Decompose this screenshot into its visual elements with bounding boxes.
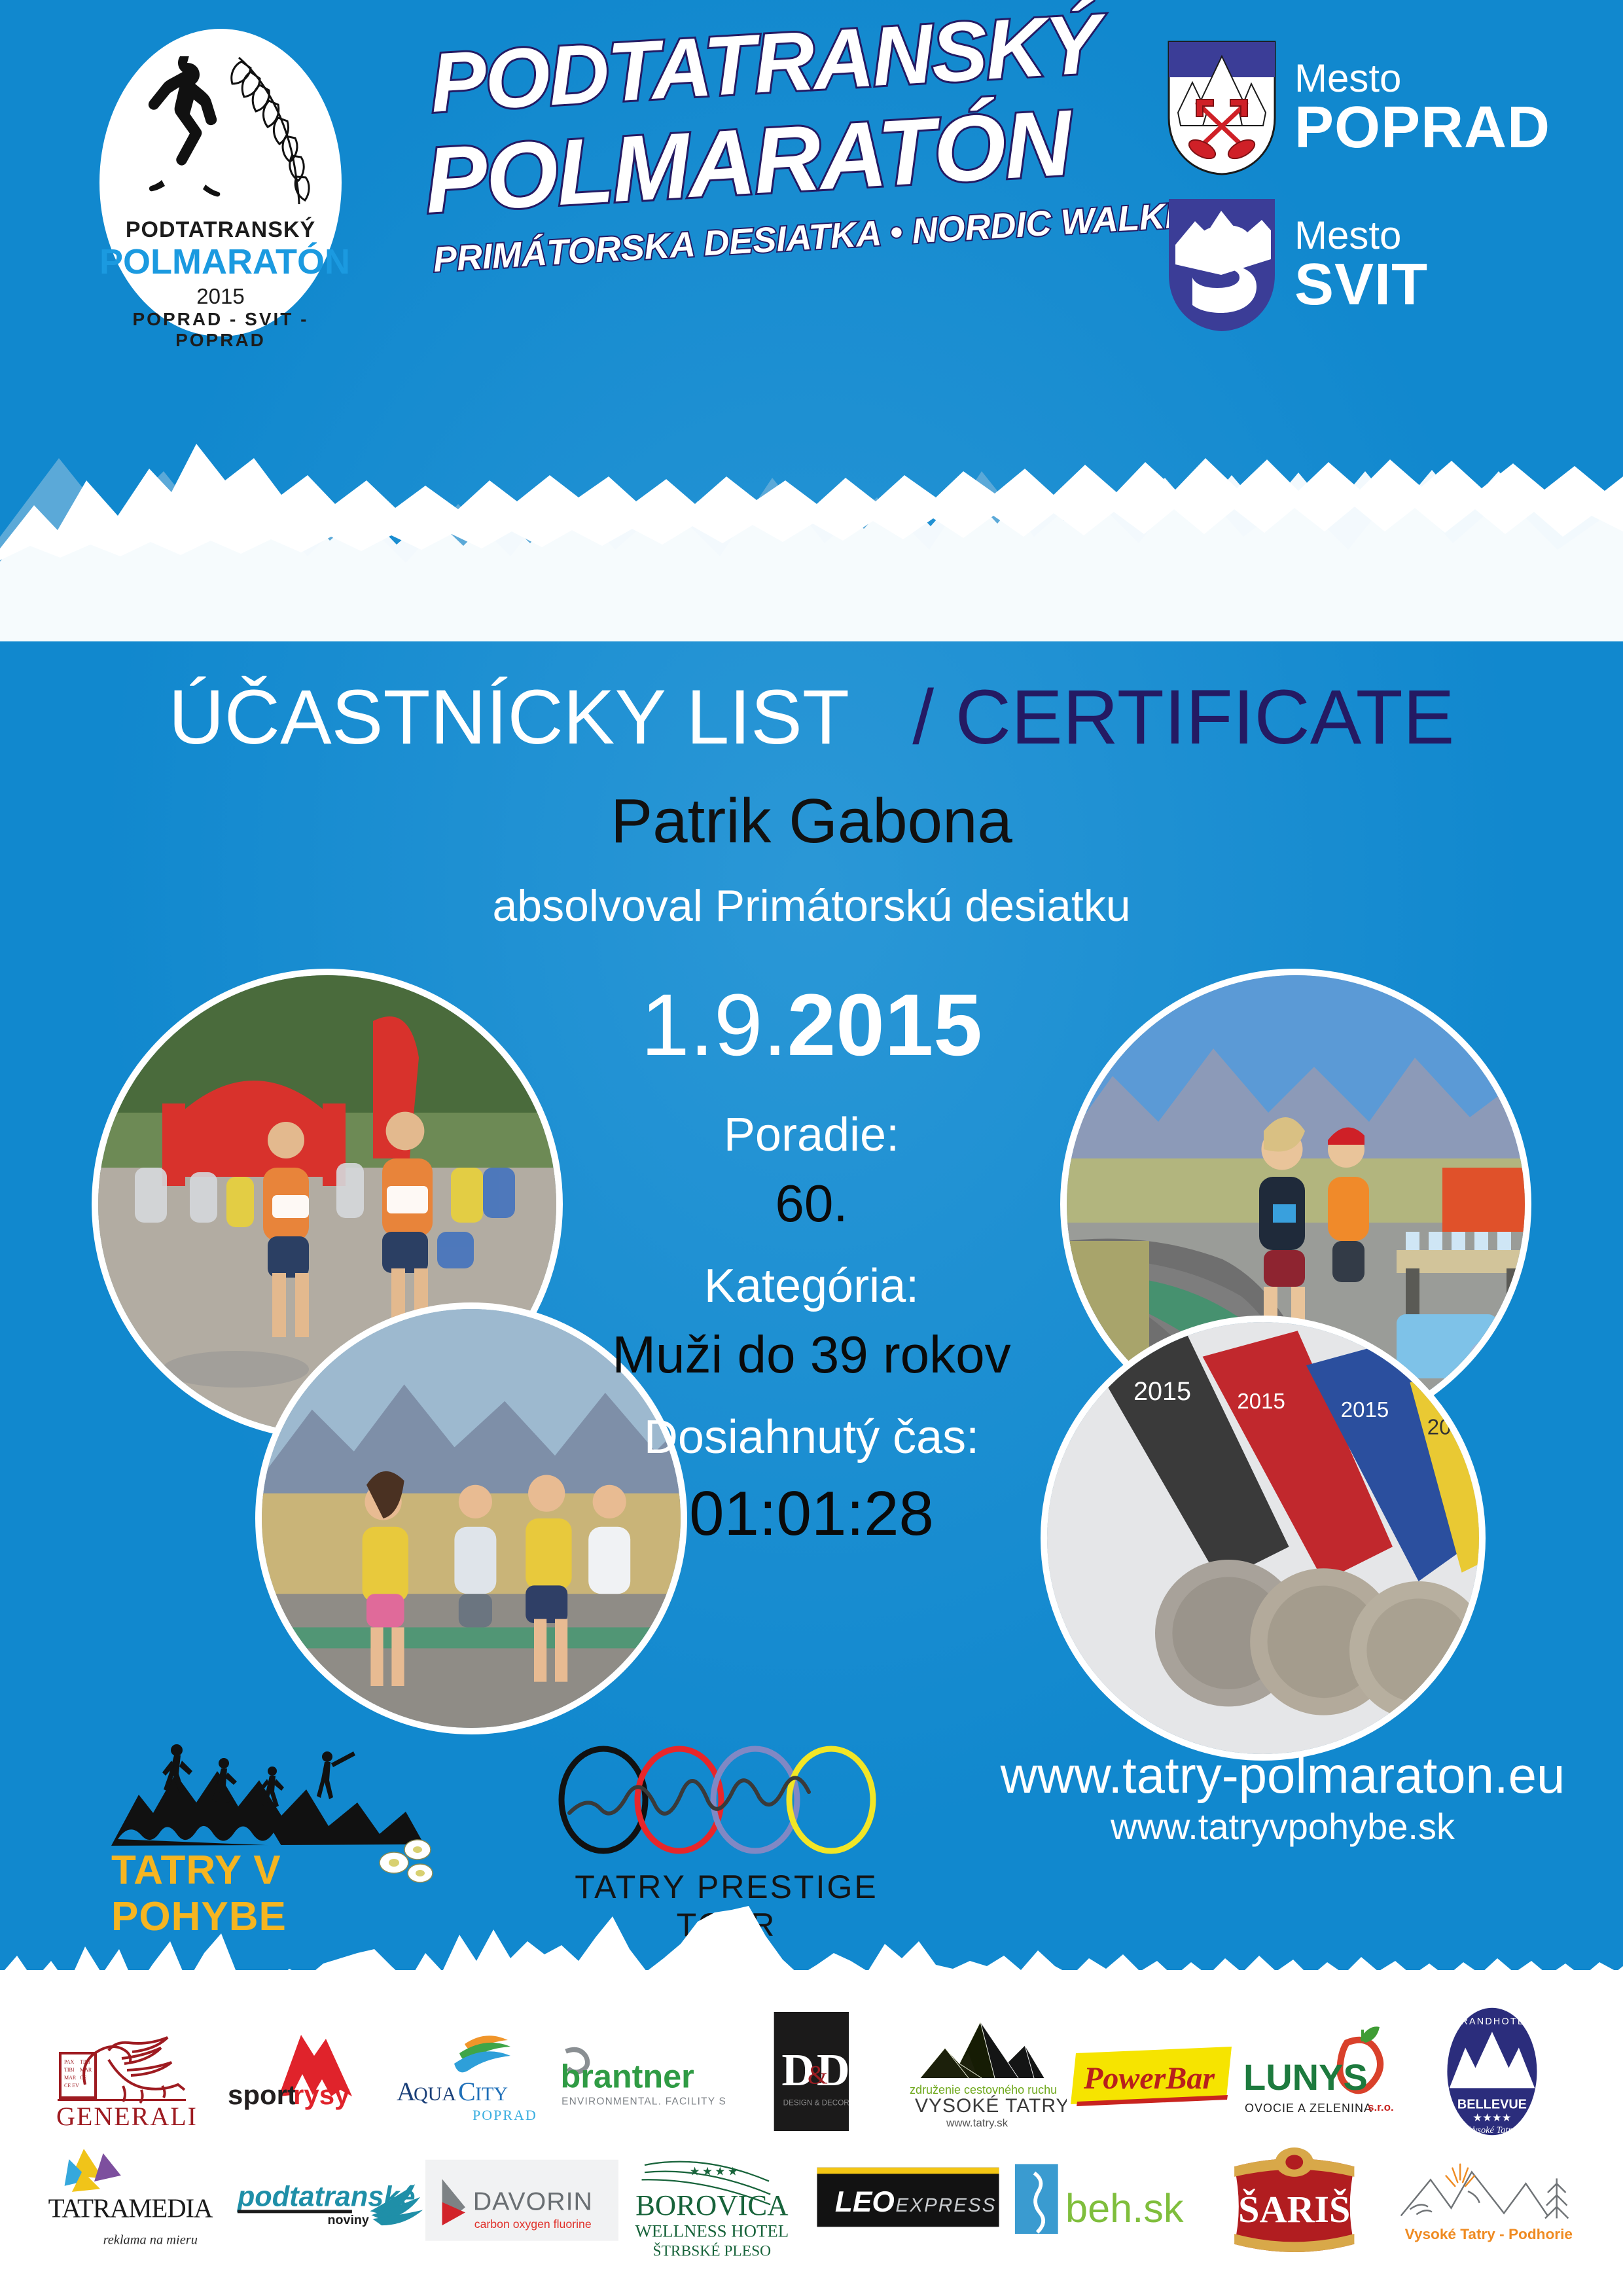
sponsor-podtatranske-noviny: podtatranské noviny [232, 2140, 425, 2265]
leo-express-logo-icon: LEO EXPRESS [811, 2158, 1005, 2248]
sponsor-footer: PAXTIBI TIBIMAR MARCE CE EV GENERALI spo… [0, 2003, 1623, 2296]
sponsor-borovica: ★★★★ BOROVICA WELLNESS HOTEL ŠTRBSKÉ PLE… [618, 2140, 811, 2265]
sponsor-podhorie: Vysoké Tatry - Podhorie [1391, 2140, 1584, 2265]
secondary-url[interactable]: www.tatryvpohybe.sk [955, 1804, 1610, 1850]
sponsor-tatramedia: TATRAMEDIA reklama na mieru [39, 2140, 232, 2265]
vysoke-tatry-logo-icon: združenie cestovného ruchu VYSOKÉ TATRY … [897, 2013, 1067, 2130]
vysoke-tatry-podhorie-logo-icon: Vysoké Tatry - Podhorie [1391, 2154, 1584, 2251]
lunys-logo-icon: LUNYS OVOCIE A ZELENINA s.r.o. [1237, 2013, 1407, 2130]
poprad-name: POPRAD [1294, 98, 1550, 158]
svit-prefix: Mesto [1294, 215, 1428, 255]
aquacity-logo-icon: A QUA C ITY POPRAD [386, 2013, 556, 2130]
sponsor-vysoke-tatry: združenie cestovného ruchu VYSOKÉ TATRY … [897, 2003, 1067, 2140]
svg-text:MAR: MAR [64, 2075, 77, 2081]
svg-text:rysy: rysy [293, 2079, 350, 2110]
borovica-hotel-logo-icon: ★★★★ BOROVICA WELLNESS HOTEL ŠTRBSKÉ PLE… [620, 2140, 810, 2265]
lunys-suffix: s.r.o. [1368, 2101, 1394, 2113]
sponsor-lunys: LUNYS OVOCIE A ZELENINA s.r.o. [1237, 2003, 1407, 2140]
sponsor-behsk: beh.sk [1005, 2140, 1198, 2265]
brantner-wordmark: brantner [561, 2057, 694, 2094]
podtatranske-noviny-logo-icon: podtatranské noviny [232, 2151, 425, 2253]
website-links: www.tatry-polmaraton.eu www.tatryvpohybe… [955, 1748, 1610, 1850]
primary-url[interactable]: www.tatry-polmaraton.eu [955, 1748, 1610, 1804]
dd-logo-icon: D D & DESIGN & DECOR [762, 2003, 861, 2140]
svg-text:ITY: ITY [475, 2083, 508, 2105]
behsk-wordmark: beh.sk [1065, 2185, 1184, 2230]
dd-tagline: DESIGN & DECOR [783, 2098, 849, 2107]
svg-text:2015: 2015 [1133, 1377, 1191, 1406]
vysoke-tatry-url: www.tatry.sk [946, 2117, 1008, 2129]
leo-express-label: EXPRESS [896, 2195, 997, 2216]
behsk-logo-icon: beh.sk [1005, 2151, 1198, 2255]
laurel-branch-icon [227, 52, 325, 209]
lunys-wordmark: LUNYS [1243, 2056, 1368, 2098]
borovica-location: ŠTRBSKÉ PLESO [653, 2242, 772, 2260]
certificate-heading-sk: ÚČASTNÍCKY LIST [169, 674, 848, 761]
davorin-wordmark: DAVORIN [473, 2187, 593, 2216]
event-date-year: 2015 [787, 977, 982, 1074]
participant-name: Patrik Gabona [0, 785, 1623, 857]
partner-svit: Mesto SVIT [1166, 196, 1428, 334]
event-date: 1.9.2015 [497, 982, 1126, 1069]
sponsor-bellevue: BELLEVUE ★★★★ GRANDHOTEL Vysoké Tatry [1407, 2003, 1577, 2140]
time-label: Dosiahnutý čas: [497, 1406, 1126, 1469]
davorin-logo-icon: DAVORIN carbon oxygen fluorine [425, 2151, 618, 2253]
bellevue-stars: ★★★★ [1472, 2111, 1512, 2124]
svg-text:TIBI: TIBI [64, 2067, 75, 2073]
svg-text:C: C [458, 2077, 476, 2106]
svg-text:CE: CE [80, 2075, 86, 2081]
tatramedia-wordmark: TATRAMEDIA [48, 2194, 213, 2223]
mountain-range-graphic [0, 340, 1623, 641]
tatry-prestige-tour-logo: TATRY PRESTIGE TOUR [543, 1740, 910, 1903]
tatramedia-tagline: reklama na mieru [103, 2233, 198, 2248]
aquacity-city-label: POPRAD [473, 2107, 537, 2123]
tatramedia-logo-icon: TATRAMEDIA reklama na mieru [39, 2143, 232, 2262]
poprad-prefix: Mesto [1294, 58, 1550, 98]
emblem-route: POPRAD - SVIT - POPRAD [99, 309, 342, 351]
event-title: PODTATRANSKÝ POLMARATÓN PRIMÁTORSKA DESI… [419, 38, 1132, 313]
vysoke-tatry-wordmark: VYSOKÉ TATRY [915, 2095, 1067, 2117]
bellevue-sub-label: Vysoké Tatry [1469, 2125, 1516, 2136]
svg-text:TIBI: TIBI [80, 2059, 90, 2065]
grandhotel-bellevue-logo-icon: BELLEVUE ★★★★ GRANDHOTEL Vysoké Tatry [1431, 2003, 1554, 2140]
sponsor-dd: D D & DESIGN & DECOR [726, 2003, 897, 2140]
category-value: Muži do 39 rokov [497, 1318, 1126, 1391]
svg-text:A: A [397, 2077, 416, 2106]
rank-value: 60. [497, 1167, 1126, 1240]
bellevue-wordmark: BELLEVUE [1457, 2097, 1527, 2111]
certificate-heading-en: / CERTIFICATE [912, 674, 1454, 761]
brand-strip: TATRY V POHYBE TATRY PRESTIGE TOUR www.t… [0, 1728, 1623, 1918]
bellevue-grandhotel-label: GRANDHOTEL [1452, 2017, 1532, 2027]
svit-label: Mesto SVIT [1294, 215, 1428, 315]
davorin-tagline: carbon oxygen fluorine [474, 2217, 592, 2231]
generali-wordmark: GENERALI [56, 2102, 198, 2130]
result-block: 1.9.2015 Poradie: 60. Kategória: Muži do… [497, 982, 1126, 1558]
brantner-logo-icon: brantner ENVIRONMENTAL. FACILITY SERVICE… [556, 2024, 726, 2119]
borovica-tagline: WELLNESS HOTEL [635, 2221, 789, 2241]
svg-text:PAX: PAX [64, 2059, 74, 2065]
saris-logo-icon: ŠARIŠ [1221, 2140, 1368, 2265]
svg-text:QUA: QUA [414, 2083, 456, 2105]
sponsor-davorin: DAVORIN carbon oxygen fluorine [425, 2140, 618, 2265]
sponsor-row-1: PAXTIBI TIBIMAR MARCE CE EV GENERALI spo… [0, 2003, 1623, 2140]
rank-label: Poradie: [497, 1103, 1126, 1167]
poprad-label: Mesto POPRAD [1294, 58, 1550, 158]
svit-name: SVIT [1294, 255, 1428, 315]
time-value: 01:01:28 [497, 1470, 1126, 1558]
certificate-page: PODTATRANSKÝ POLMARATÓN 2015 POPRAD - SV… [0, 0, 1623, 2296]
sponsor-generali: PAXTIBI TIBIMAR MARCE CE EV GENERALI [46, 2003, 216, 2140]
powerbar-wordmark: PowerBar [1083, 2061, 1215, 2096]
svg-text:MAR: MAR [80, 2067, 92, 2073]
participant-subtitle: absolvoval Primátorskú desiatku [0, 880, 1623, 931]
sponsor-aquacity: A QUA C ITY POPRAD [386, 2003, 556, 2140]
podtatranske-noviny-label: noviny [328, 2213, 369, 2227]
sponsor-row-2: TATRAMEDIA reklama na mieru podtatranské… [0, 2140, 1623, 2265]
borovica-stars: ★★★★ [690, 2165, 741, 2178]
saris-wordmark: ŠARIŠ [1238, 2188, 1350, 2231]
powerbar-logo-icon: PowerBar [1067, 2013, 1237, 2130]
sponsor-sportrysy: sport rysy [216, 2003, 386, 2140]
lunys-tagline: OVOCIE A ZELENINA [1245, 2102, 1372, 2115]
header: PODTATRANSKÝ POLMARATÓN 2015 POPRAD - SV… [0, 0, 1623, 353]
svit-coat-of-arms-icon [1166, 196, 1277, 334]
event-date-daymonth: 1.9. [641, 977, 787, 1074]
svg-text:2015: 2015 [1341, 1397, 1389, 1422]
page-title: ÚČASTNÍCKY LIST / CERTIFICATE [0, 673, 1623, 762]
brantner-tagline: ENVIRONMENTAL. FACILITY SERVICES [562, 2096, 726, 2107]
svg-text:CE EV: CE EV [64, 2083, 79, 2089]
svg-text:sport: sport [228, 2079, 296, 2110]
poprad-coat-of-arms-icon [1166, 39, 1277, 177]
vysoke-tatry-tagline: združenie cestovného ruchu [910, 2083, 1057, 2096]
generali-logo-icon: PAXTIBI TIBIMAR MARCE CE EV GENERALI [46, 2013, 216, 2130]
sponsor-saris: ŠARIŠ [1198, 2140, 1391, 2265]
category-label: Kategória: [497, 1255, 1126, 1318]
svg-text:2015: 2015 [1237, 1389, 1285, 1413]
podhorie-wordmark: Vysoké Tatry - Podhorie [1405, 2226, 1573, 2242]
svg-text:&: & [808, 2061, 828, 2090]
partner-poprad: Mesto POPRAD [1166, 39, 1550, 177]
sportrysy-logo-icon: sport rysy [216, 2013, 386, 2130]
borovica-wordmark: BOROVICA [635, 2189, 788, 2221]
emblem-line2: POLMARATÓN [99, 242, 342, 282]
sponsor-leo-express: LEO EXPRESS [811, 2140, 1005, 2265]
emblem-line1: PODTATRANSKÝ [99, 217, 342, 243]
emblem-year: 2015 [99, 284, 342, 309]
event-emblem-logo: PODTATRANSKÝ POLMARATÓN 2015 POPRAD - SV… [99, 29, 342, 336]
leo-wordmark: LEO [835, 2186, 895, 2218]
sponsor-brantner: brantner ENVIRONMENTAL. FACILITY SERVICE… [556, 2003, 726, 2140]
tatry-v-pohybe-logo: TATRY V POHYBE [98, 1734, 465, 1898]
sponsor-powerbar: PowerBar [1067, 2003, 1237, 2140]
